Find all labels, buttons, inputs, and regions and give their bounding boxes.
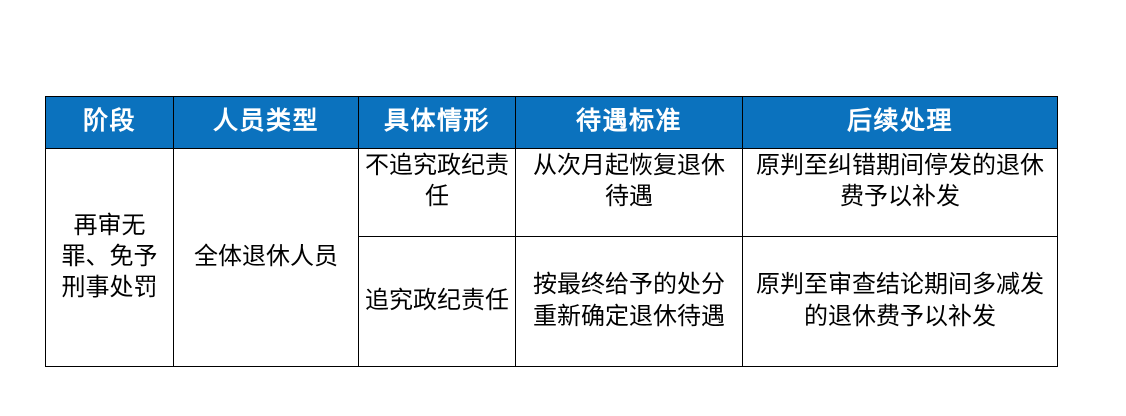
cell-stage: 再审无罪、免予刑事处罚 xyxy=(46,149,174,367)
policy-table: 阶段 人员类型 具体情形 待遇标准 后续处理 再审无罪、免予刑事处罚 全体退休人… xyxy=(45,96,1058,367)
cell-standard: 按最终给予的处分重新确定退休待遇 xyxy=(516,237,743,367)
column-header-standard: 待遇标准 xyxy=(516,97,743,149)
table-row: 再审无罪、免予刑事处罚 全体退休人员 不追究政纪责任 从次月起恢复退休待遇 原判… xyxy=(46,149,1058,237)
cell-person-type: 全体退休人员 xyxy=(174,149,359,367)
table-header: 阶段 人员类型 具体情形 待遇标准 后续处理 xyxy=(46,97,1058,149)
column-header-stage: 阶段 xyxy=(46,97,174,149)
column-header-person-type: 人员类型 xyxy=(174,97,359,149)
cell-situation: 追究政纪责任 xyxy=(359,237,516,367)
table-body: 再审无罪、免予刑事处罚 全体退休人员 不追究政纪责任 从次月起恢复退休待遇 原判… xyxy=(46,149,1058,367)
cell-followup: 原判至纠错期间停发的退休费予以补发 xyxy=(743,149,1058,237)
cell-standard: 从次月起恢复退休待遇 xyxy=(516,149,743,237)
policy-table-container: 阶段 人员类型 具体情形 待遇标准 后续处理 再审无罪、免予刑事处罚 全体退休人… xyxy=(45,96,1057,367)
cell-situation: 不追究政纪责任 xyxy=(359,149,516,237)
cell-followup: 原判至审查结论期间多减发的退休费予以补发 xyxy=(743,237,1058,367)
header-row: 阶段 人员类型 具体情形 待遇标准 后续处理 xyxy=(46,97,1058,149)
column-header-situation: 具体情形 xyxy=(359,97,516,149)
column-header-followup: 后续处理 xyxy=(743,97,1058,149)
